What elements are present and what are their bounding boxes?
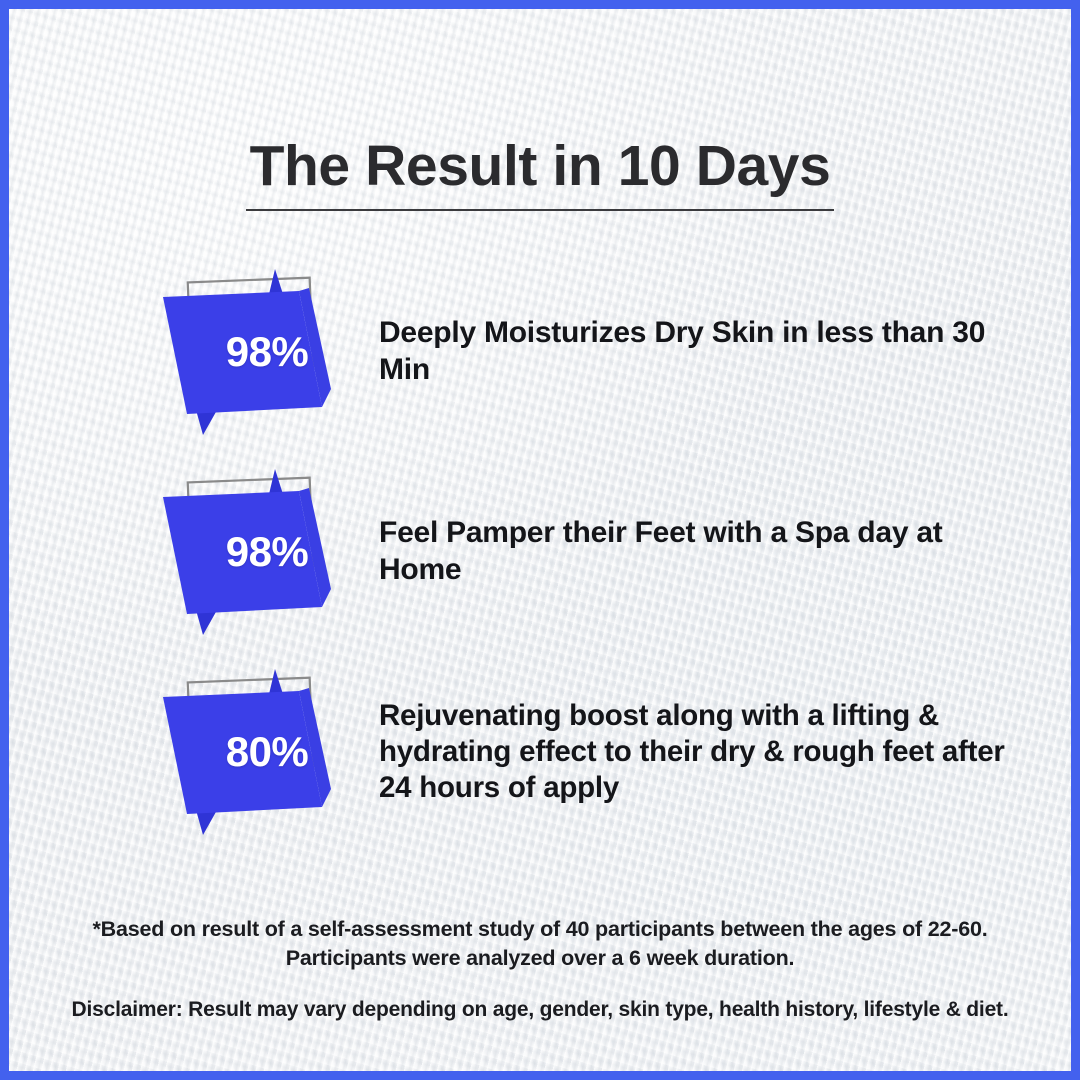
percentage-badge: 98% xyxy=(159,467,355,637)
study-footnote: *Based on result of a self-assessment st… xyxy=(9,915,1071,972)
disclaimer-text: Disclaimer: Result may vary depending on… xyxy=(9,998,1071,1022)
percentage-badge: 80% xyxy=(159,667,355,837)
percentage-badge: 98% xyxy=(159,267,355,437)
stat-description: Deeply Moisturizes Dry Skin in less than… xyxy=(379,315,1019,388)
stat-row: 98% Feel Pamper their Feet with a Spa da… xyxy=(159,467,1019,637)
stat-description: Rejuvenating boost along with a lifting … xyxy=(379,698,1029,806)
poster-content: The Result in 10 Days 98% Deeply Moistur… xyxy=(9,9,1071,1071)
title-container: The Result in 10 Days xyxy=(9,137,1071,211)
page-title: The Result in 10 Days xyxy=(246,137,835,211)
badge-percentage-value: 98% xyxy=(159,267,355,437)
infographic-poster: The Result in 10 Days 98% Deeply Moistur… xyxy=(0,0,1080,1080)
badge-percentage-value: 98% xyxy=(159,467,355,637)
stat-row: 98% Deeply Moisturizes Dry Skin in less … xyxy=(159,267,1019,437)
footnotes-container: *Based on result of a self-assessment st… xyxy=(9,915,1071,1022)
stat-description: Feel Pamper their Feet with a Spa day at… xyxy=(379,515,1019,588)
badge-percentage-value: 80% xyxy=(159,667,355,837)
stat-row: 80% Rejuvenating boost along with a lift… xyxy=(159,667,1029,837)
